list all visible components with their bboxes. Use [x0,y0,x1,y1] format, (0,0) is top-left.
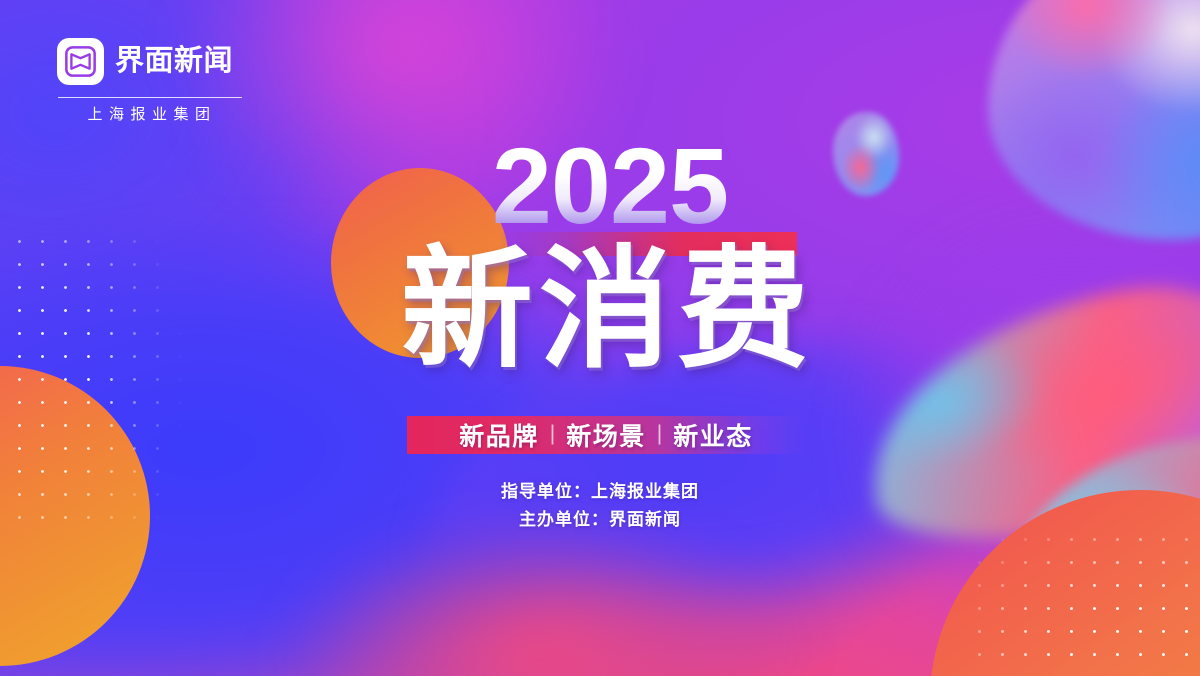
page-title: 新消费 [8,236,1200,384]
keyword-item-0: 新品牌 [448,417,550,453]
logo-row: 界面新闻 [57,38,243,85]
credits-guidance: 指导单位：上海报业集团 [0,478,1200,506]
brand-logo-lockup: 界面新闻 上海报业集团 [57,38,243,122]
logo-divider [58,97,242,98]
logo-wordmark: 界面新闻 [115,47,233,76]
logo-subtitle: 上海报业集团 [57,107,243,122]
credits-organizer: 主办单位：界面新闻 [0,506,1200,534]
year-label: 2025 [492,132,728,240]
poster-canvas: 界面新闻 上海报业集团 2025 新消费 新品牌 | 新场景 | 新业态 指导单… [0,0,1200,676]
keyword-item-1: 新场景 [555,417,657,453]
keyword-separator-0: | [550,422,555,446]
keyword-bar: 新品牌 | 新场景 | 新业态 [407,416,805,454]
dot-grid-bottom-right [968,528,1200,676]
keyword-item-2: 新业态 [662,417,764,453]
year-wrapper: 2025 [0,132,1200,240]
credits-block: 指导单位：上海报业集团 主办单位：界面新闻 [0,478,1200,533]
jiemian-bowtie-logo-icon [57,38,104,85]
keyword-separator-1: | [657,422,662,446]
